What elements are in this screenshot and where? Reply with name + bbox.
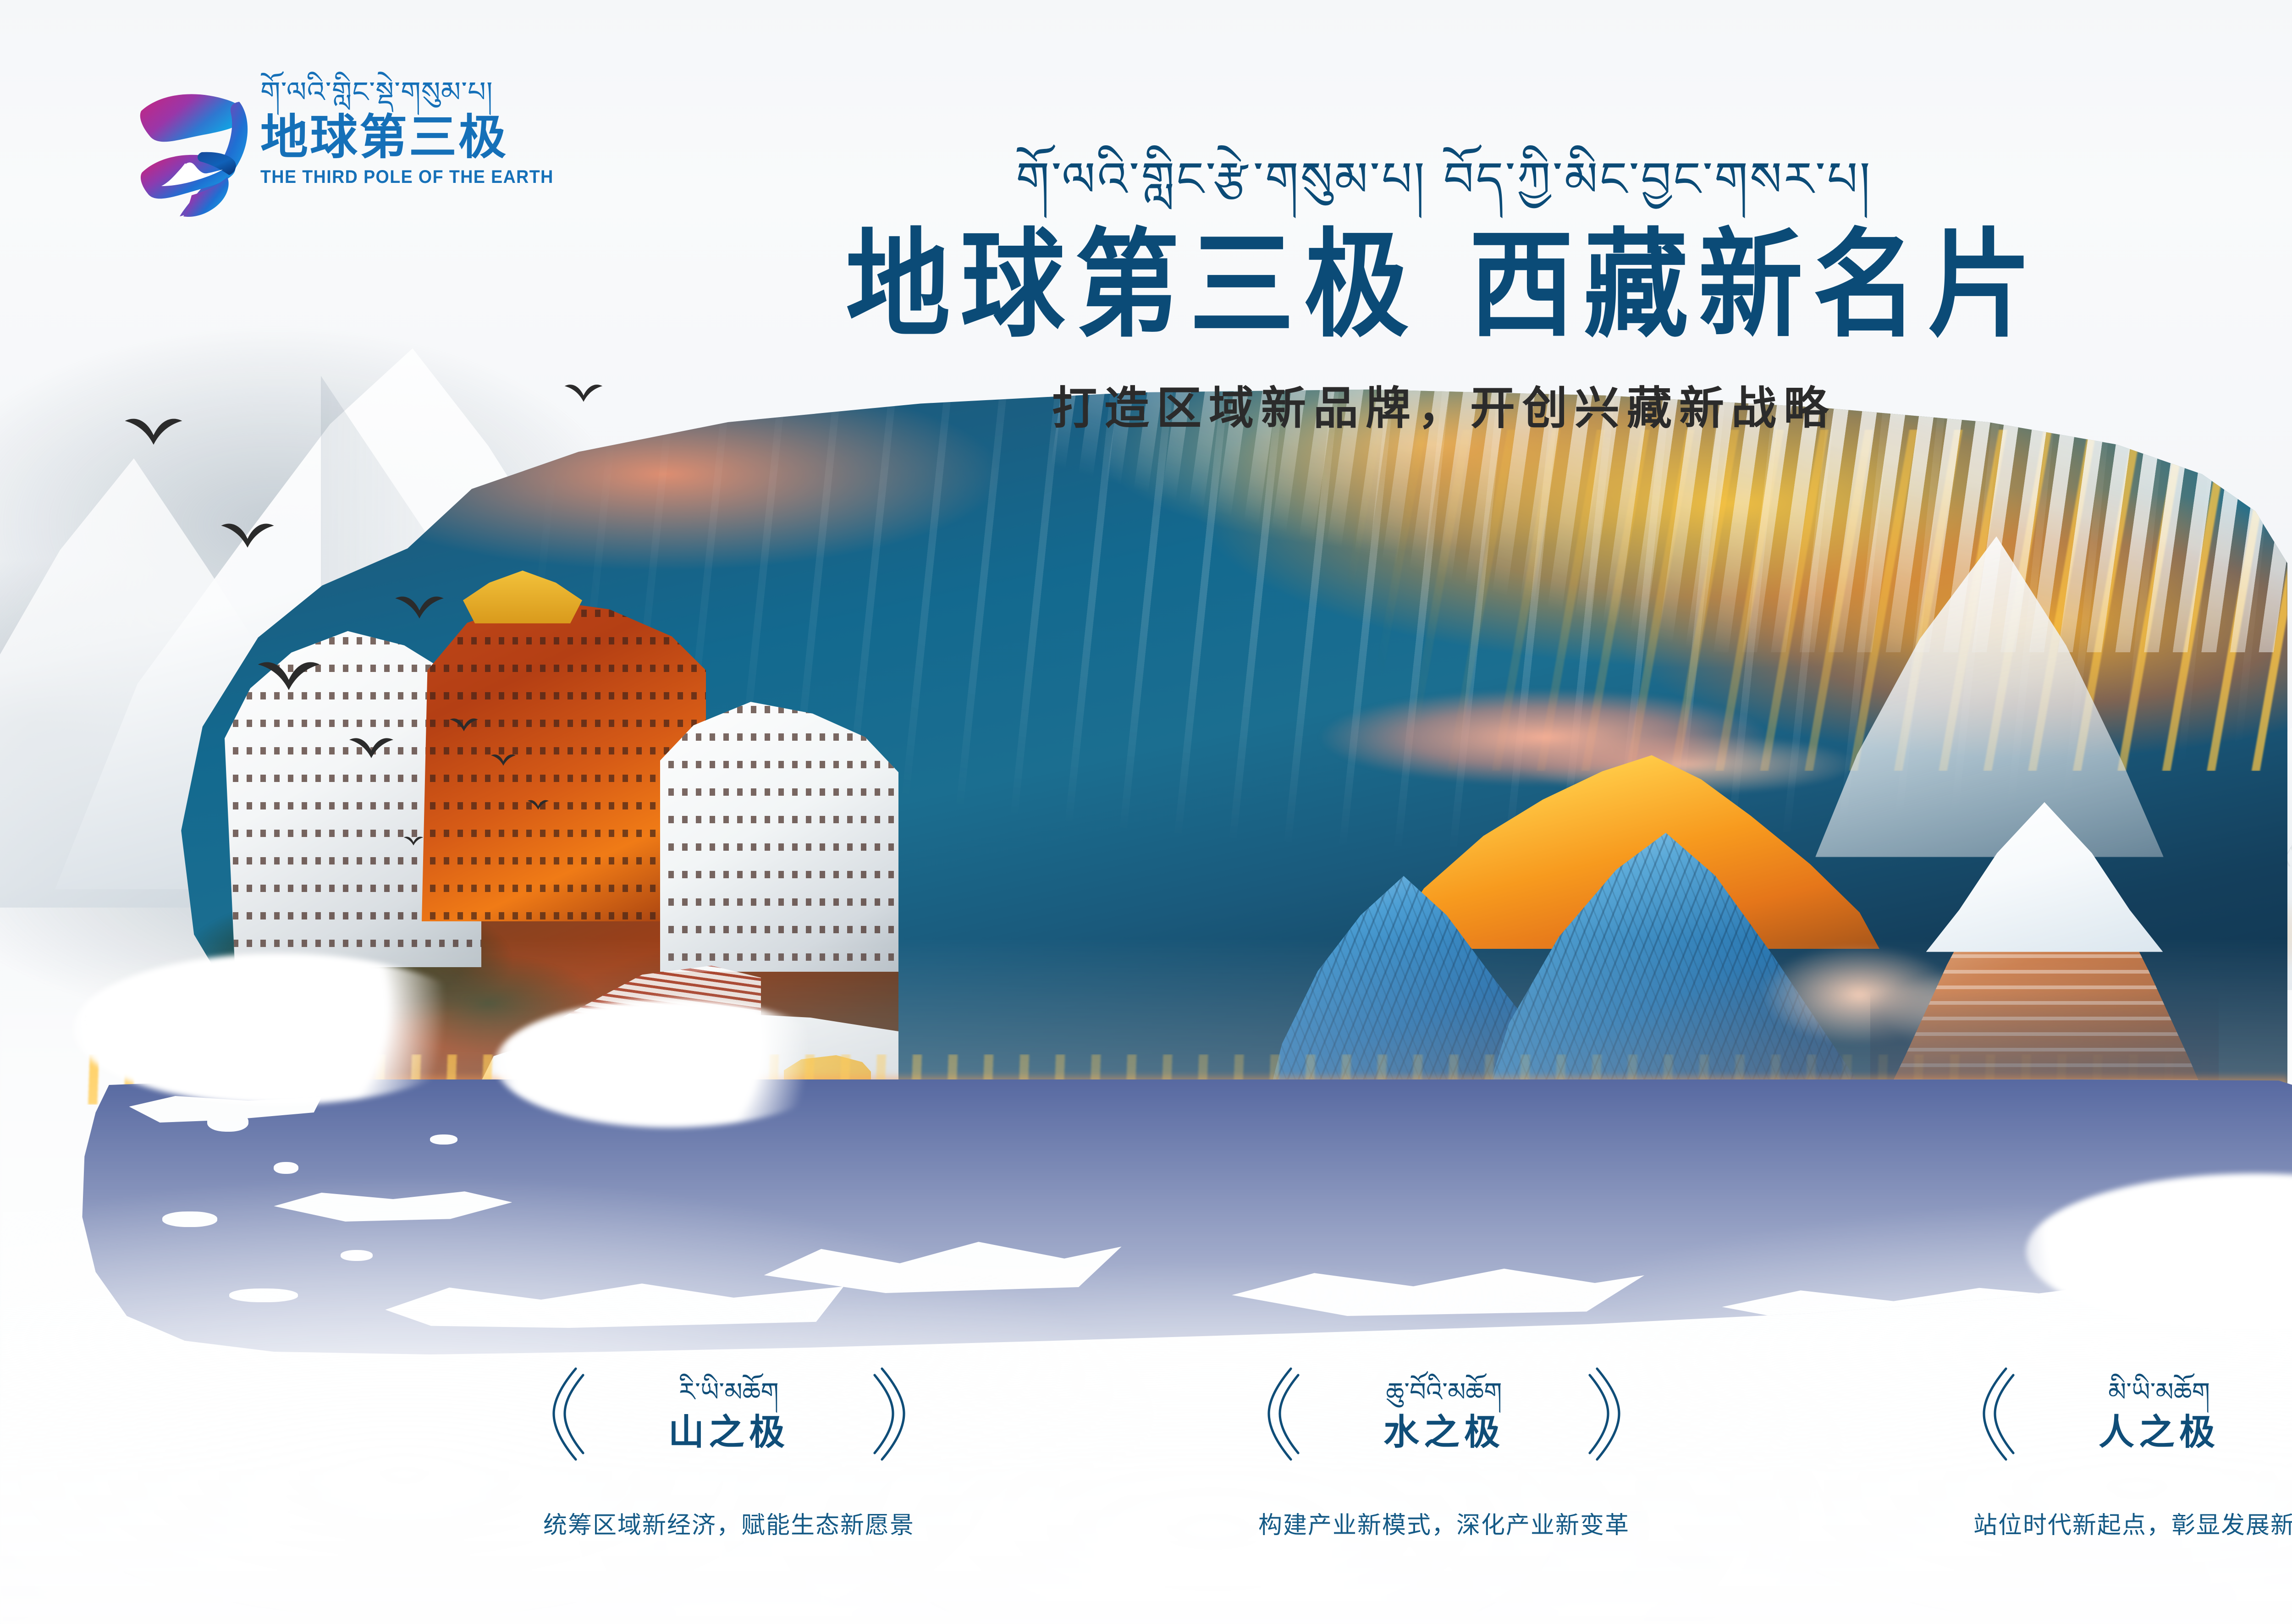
palace-golden-roof xyxy=(463,568,582,623)
pillar-description: 站位时代新起点，彰显发展新高度 xyxy=(1912,1514,2292,1537)
pillar-text: ཆུ་བོའི་མཆོག 水之极 xyxy=(1316,1378,1572,1450)
logo-tibetan-name: གོ་ལའི་གླིང་སྡེ་གསུམ་པ། xyxy=(260,78,535,106)
cloud-puff-left-2 xyxy=(495,999,843,1128)
headline-block: གོ་ལའི་གླིང་རྩེ་གསུམ་པ། བོད་ཀྱི་མིང་བྱང་… xyxy=(0,151,2292,430)
title-part-2: 西藏新名片 xyxy=(1469,220,2042,350)
pillar-description: 构建产业新模式，深化产业新变革 xyxy=(1196,1514,1691,1537)
pillar-header: ཆུ་བོའི་མཆོག 水之极 xyxy=(1196,1366,1691,1462)
brace-left-icon xyxy=(1975,1366,2015,1462)
pillar-text: མི་ཡི་མཆོག 人之极 xyxy=(2031,1378,2287,1450)
pillar-name: 水之极 xyxy=(1316,1414,1572,1450)
pillars-row: རི་ཡི་མཆོག 山之极 统筹区域新经济，赋能生态新愿景 xyxy=(0,1366,2292,1537)
pillar-people: མི་ཡི་མཆོག 人之极 站位时代新起点，彰显发展新高度 xyxy=(1912,1366,2292,1537)
pillar-name: 山之极 xyxy=(601,1414,857,1450)
poster-root: གོ་ལའི་གླིང་སྡེ་གསུམ་པ། 地球第三极 THE THIRD … xyxy=(0,0,2292,1624)
pillar-name: 人之极 xyxy=(2031,1414,2287,1450)
bird-icon xyxy=(403,834,424,847)
bird-icon xyxy=(527,798,549,811)
cloud-puff-left xyxy=(73,953,486,1105)
bird-icon xyxy=(449,715,479,733)
bird-icon xyxy=(257,655,321,694)
pillar-header: རི་ཡི་མཆོག 山之极 xyxy=(481,1366,976,1462)
headline-tibetan: གོ་ལའི་གླིང་རྩེ་གསུམ་པ། བོད་ཀྱི་མིང་བྱང་… xyxy=(0,151,2292,208)
bird-icon xyxy=(394,591,445,622)
bird-icon xyxy=(348,733,394,761)
pillar-mountain: རི་ཡི་མཆོག 山之极 统筹区域新经济，赋能生态新愿景 xyxy=(481,1366,976,1537)
pillar-description: 统筹区域新经济，赋能生态新愿景 xyxy=(481,1514,976,1537)
brace-left-icon xyxy=(1260,1366,1300,1462)
bird-icon xyxy=(490,752,516,767)
kailash-snow-cap xyxy=(1926,802,2163,952)
pillar-water: ཆུ་བོའི་མཆོག 水之极 构建产业新模式，深化产业新变革 xyxy=(1196,1366,1691,1537)
brace-left-icon xyxy=(545,1366,585,1462)
page-subtitle: 打造区域新品牌，开创兴藏新战略 xyxy=(0,385,2292,430)
brace-right-icon xyxy=(1588,1366,1628,1462)
page-title: 地球第三极西藏新名片 xyxy=(0,227,2292,344)
brace-right-icon xyxy=(873,1366,913,1462)
title-part-1: 地球第三极 xyxy=(846,220,1419,350)
pillar-tibetan: རི་ཡི་མཆོག xyxy=(601,1378,857,1407)
pillar-text: རི་ཡི་མཆོག 山之极 xyxy=(601,1378,857,1450)
bird-icon xyxy=(220,518,275,551)
pillar-tibetan: མི་ཡི་མཆོག xyxy=(2031,1378,2287,1407)
pillar-tibetan: ཆུ་བོའི་མཆོག xyxy=(1316,1378,1572,1407)
pillar-header: མི་ཡི་མཆོག 人之极 xyxy=(1912,1366,2292,1462)
